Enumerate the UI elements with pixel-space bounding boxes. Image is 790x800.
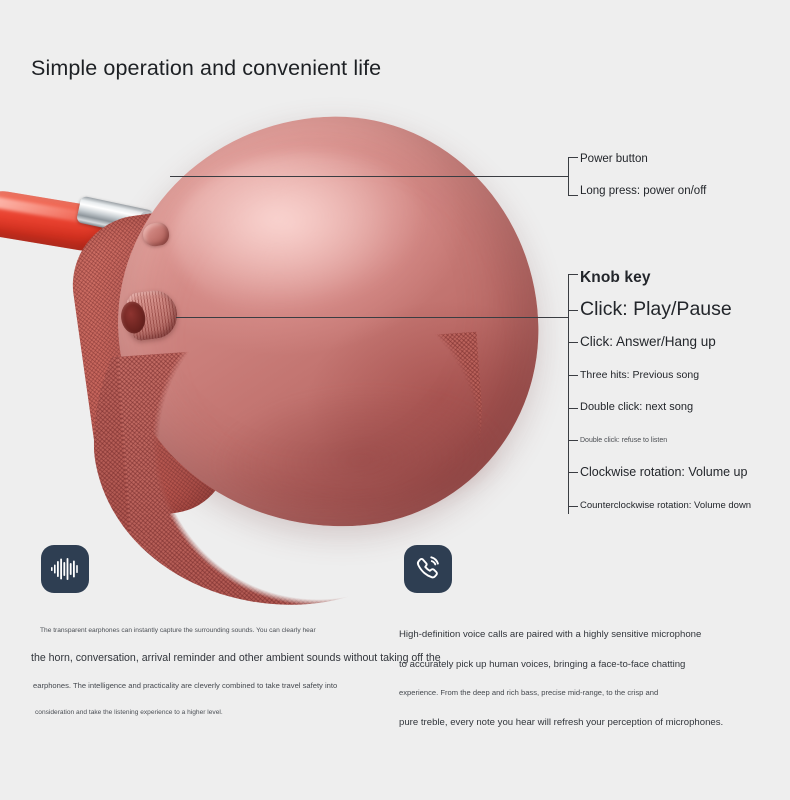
infographic-page: Simple operation and convenient life Pow…	[0, 0, 790, 800]
tick-power-long-press	[568, 195, 578, 196]
feature-line: experience. From the deep and rich bass,…	[399, 689, 749, 697]
annotation-counterclockwise: Counterclockwise rotation: Volume down	[580, 501, 751, 511]
annotation-power-button: Power button	[580, 154, 648, 166]
annotation-three-hits: Three hits: Previous song	[580, 370, 699, 381]
earcup-shadow	[206, 378, 514, 517]
feature-line: earphones. The intelligence and practica…	[33, 682, 370, 690]
feature-line: The transparent earphones can instantly …	[40, 628, 370, 635]
leader-line-power	[170, 176, 568, 177]
tick-double-next	[568, 408, 578, 409]
annotation-power-long-press: Long press: power on/off	[580, 186, 706, 198]
annotation-click-answer: Click: Answer/Hang up	[580, 335, 716, 349]
audio-waveform-icon	[51, 558, 79, 580]
voice-calls-badge	[404, 545, 452, 593]
tick-clockwise	[568, 472, 578, 473]
feature-line: to accurately pick up human voices, brin…	[399, 660, 749, 670]
tick-three-hits	[568, 375, 578, 376]
feature-line: the horn, conversation, arrival reminder…	[31, 653, 370, 664]
product-illustration	[0, 95, 575, 535]
tick-counterclockwise	[568, 506, 578, 507]
tick-click-answer	[568, 342, 578, 343]
feature-line: High-definition voice calls are paired w…	[399, 630, 749, 640]
voice-calls-text: High-definition voice calls are paired w…	[399, 630, 749, 727]
bracket-power	[568, 157, 569, 195]
annotation-double-click-next: Double click: next song	[580, 402, 693, 413]
annotation-double-click-refuse: Double click: refuse to listen	[580, 437, 667, 444]
tick-knob-key	[568, 274, 578, 275]
annotation-click-play-pause: Click: Play/Pause	[580, 300, 732, 320]
phone-call-icon	[414, 555, 442, 583]
transparency-mode-text: The transparent earphones can instantly …	[40, 628, 370, 716]
transparency-mode-badge	[41, 545, 89, 593]
tick-power-button	[568, 157, 578, 158]
annotation-knob-key: Knob key	[580, 270, 651, 286]
leader-line-knob	[176, 317, 568, 318]
page-title: Simple operation and convenient life	[31, 56, 381, 81]
feature-line: consideration and take the listening exp…	[35, 710, 370, 717]
annotation-clockwise: Clockwise rotation: Volume up	[580, 466, 747, 479]
earcup-highlight	[168, 144, 437, 321]
tick-click-play-pause	[568, 310, 578, 311]
tick-double-refuse	[568, 440, 578, 441]
feature-line: pure treble, every note you hear will re…	[399, 718, 749, 728]
